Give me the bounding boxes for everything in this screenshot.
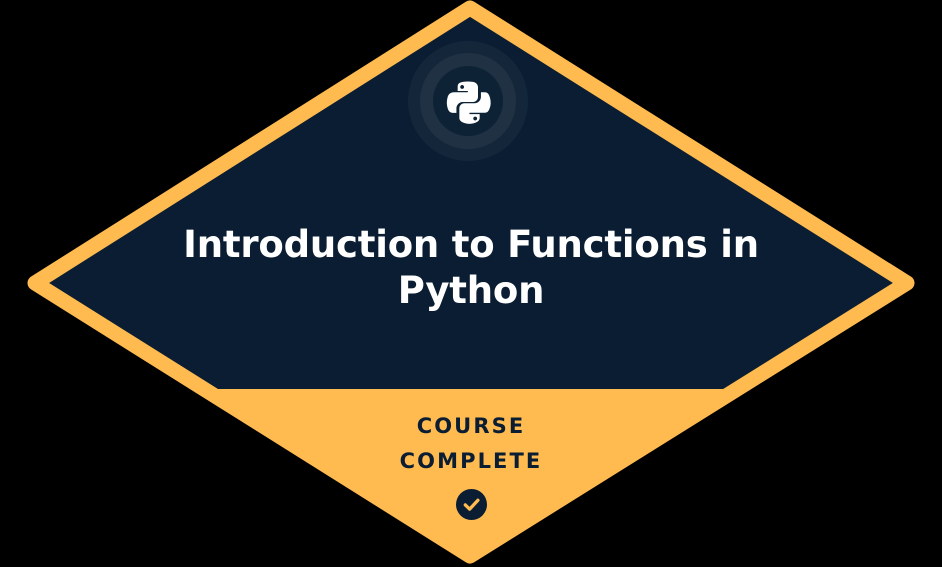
course-completion-badge: Introduction to Functions in Python COUR…: [0, 0, 942, 567]
badge-diamond-shape: [0, 0, 942, 567]
